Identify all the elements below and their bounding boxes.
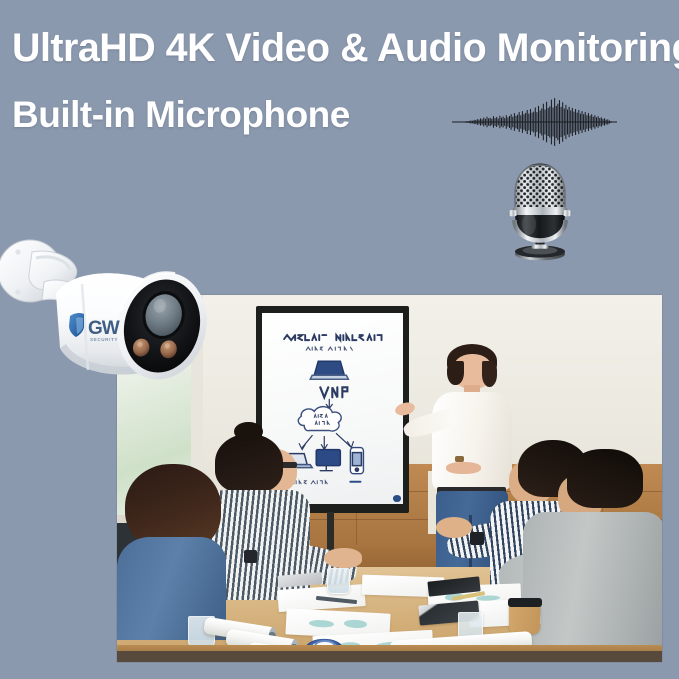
- attendee-left-back-watch: [244, 550, 257, 563]
- water-glass: [327, 568, 350, 594]
- attendee-right-front-hair: [567, 449, 643, 508]
- floor: [117, 651, 662, 662]
- attendee-right-back-watch: [470, 532, 484, 545]
- coffee-cup: [509, 601, 540, 634]
- svg-text:GW: GW: [88, 318, 120, 339]
- attendee-left-back-hair: [215, 434, 283, 493]
- presenter-watch: [455, 456, 464, 462]
- attendee-right-front-shirt: [523, 512, 662, 651]
- retro-microphone-icon: [495, 158, 585, 263]
- attendee-left-back-hand: [324, 548, 362, 568]
- svg-text:SECURITY: SECURITY: [90, 337, 118, 342]
- presenter-blouse: [432, 392, 512, 489]
- product-marketing-poster: UltraHD 4K Video & Audio Monitoring Buil…: [0, 0, 679, 679]
- presenter-hands: [446, 462, 481, 474]
- attendee-right-back-hand: [436, 517, 472, 538]
- attendee-left-back-bun: [234, 422, 262, 441]
- headline-primary: UltraHD 4K Video & Audio Monitoring: [12, 26, 679, 71]
- presenter-hair-left: [447, 361, 463, 385]
- bullet-security-camera-image: GW SECURITY: [0, 222, 228, 422]
- audio-waveform-icon: [452, 96, 617, 148]
- headline-secondary: Built-in Microphone: [12, 94, 350, 136]
- presenter-hair-right: [482, 361, 498, 387]
